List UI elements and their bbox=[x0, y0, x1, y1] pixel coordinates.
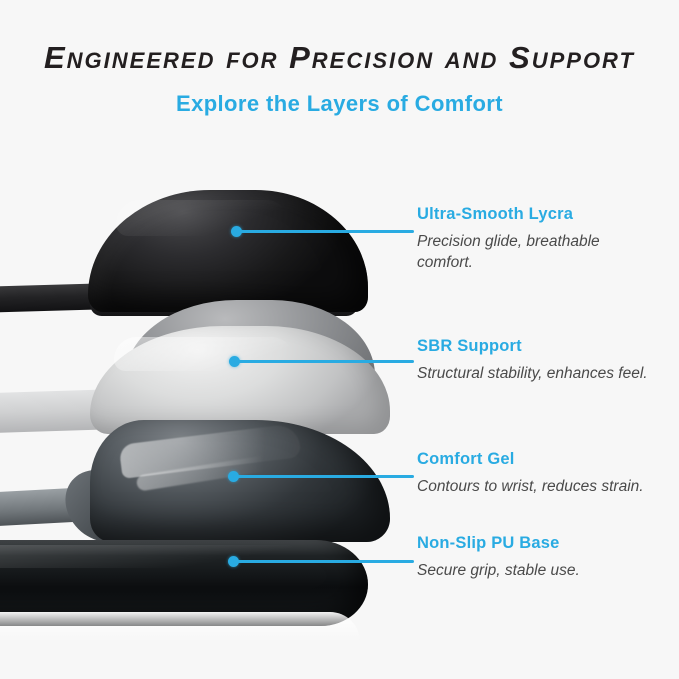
lycra-dome bbox=[88, 190, 368, 312]
callout-description-gel: Contours to wrist, reduces strain. bbox=[417, 477, 657, 498]
leader-line-pu bbox=[233, 560, 414, 563]
product-infographic: Engineered for Precision and Support Exp… bbox=[0, 0, 679, 679]
callout-description-lycra: Precision glide, breathable comfort. bbox=[417, 232, 657, 274]
subtitle: Explore the Layers of Comfort bbox=[0, 91, 679, 117]
leader-line-lycra bbox=[236, 230, 414, 233]
callout-title-sbr: SBR Support bbox=[417, 337, 522, 356]
callout-description-sbr: Structural stability, enhances feel. bbox=[417, 364, 657, 385]
callout-title-pu: Non-Slip PU Base bbox=[417, 534, 560, 553]
pu-underglow bbox=[0, 612, 360, 642]
callout-description-pu: Secure grip, stable use. bbox=[417, 561, 657, 582]
callout-title-gel: Comfort Gel bbox=[417, 450, 515, 469]
leader-line-gel bbox=[233, 475, 414, 478]
product-layer-stack bbox=[0, 150, 420, 620]
leader-line-sbr bbox=[234, 360, 414, 363]
callout-title-lycra: Ultra-Smooth Lycra bbox=[417, 205, 573, 224]
headline: Engineered for Precision and Support bbox=[0, 40, 679, 76]
pu-base-layer bbox=[0, 520, 410, 640]
